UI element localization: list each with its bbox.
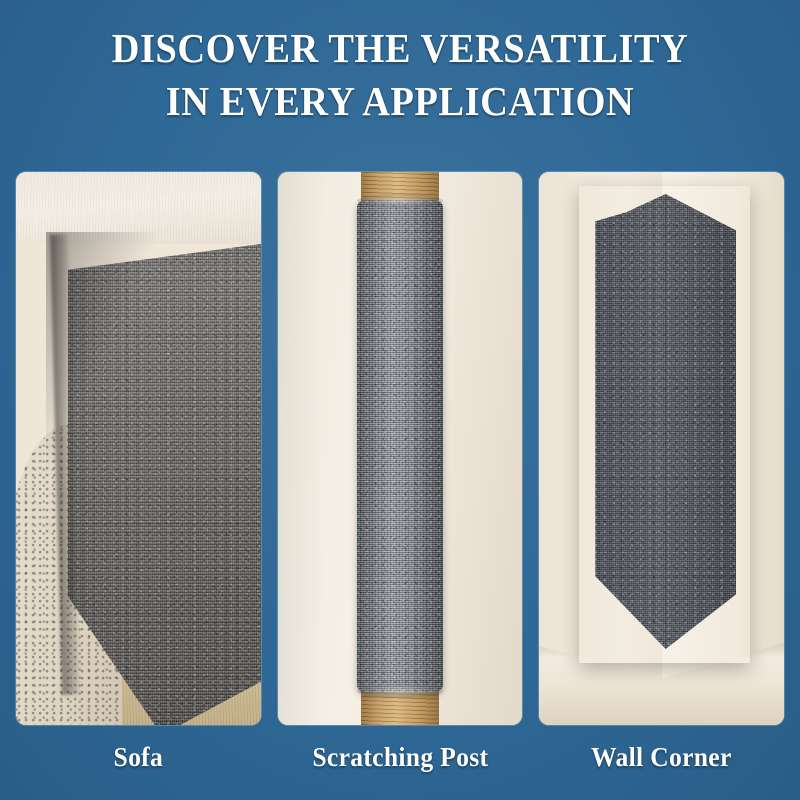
application-panel-sofa[interactable] [16, 172, 261, 725]
page-title-line-1: DISCOVER THE VERSATILITY [24, 22, 776, 75]
sofa-backrest-grain [16, 172, 261, 244]
carpet-cover-on-wall-corner [595, 194, 736, 649]
carpet-speckle-texture [357, 200, 443, 692]
carpet-rib-texture [357, 200, 443, 692]
carpet-wrap-bottom-edge [357, 684, 443, 698]
carpet-wrap-top-edge [357, 194, 443, 208]
page-title: DISCOVER THE VERSATILITY IN EVERY APPLIC… [24, 22, 776, 128]
carpet-corner-face-right [666, 194, 736, 649]
caption-wall-corner: Wall Corner [545, 740, 777, 774]
carpet-wrap-on-post [357, 200, 443, 692]
application-panel-scratching-post[interactable] [278, 172, 523, 725]
sofa-backrest-fabric [16, 172, 261, 244]
application-panel-wall-corner[interactable] [539, 172, 784, 725]
carpet-corner-face-left [595, 194, 665, 649]
carpet-corner-crease [664, 194, 667, 649]
post-background-shading [278, 172, 324, 725]
product-feature-poster: DISCOVER THE VERSATILITY IN EVERY APPLIC… [0, 0, 800, 800]
caption-scratching-post: Scratching Post [284, 740, 516, 774]
application-panel-row [16, 172, 784, 725]
caption-row: Sofa Scratching Post Wall Corner [16, 740, 784, 774]
caption-sofa: Sofa [22, 740, 254, 774]
page-title-line-2: IN EVERY APPLICATION [24, 75, 776, 128]
